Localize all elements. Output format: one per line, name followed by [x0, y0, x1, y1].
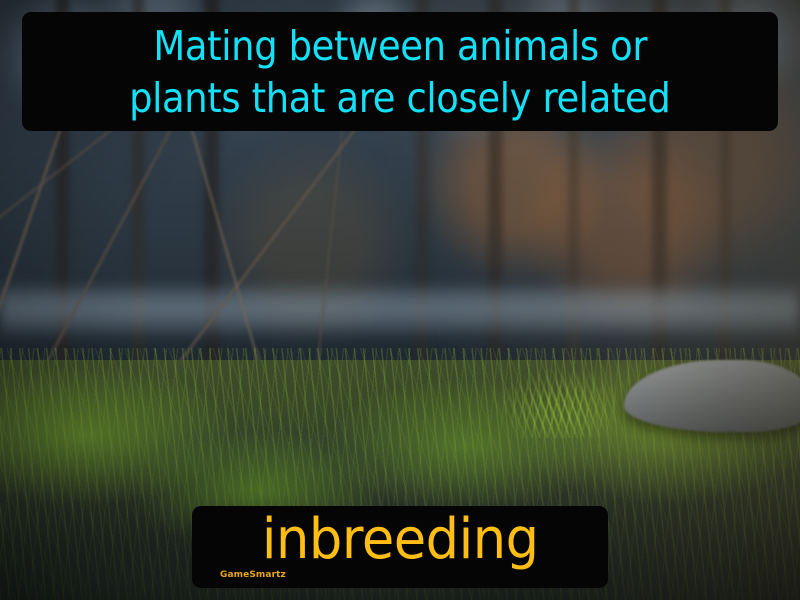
sunlit-grass-clump — [472, 342, 648, 438]
term-label: inbreeding — [262, 508, 539, 572]
watermark-label: GameSmartz — [220, 570, 286, 580]
definition-line-2: plants that are closely related — [129, 72, 670, 124]
definition-banner: Mating between animals or plants that ar… — [22, 12, 778, 131]
definition-line-1: Mating between animals or — [153, 20, 647, 72]
term-banner: inbreeding GameSmartz — [192, 506, 608, 588]
flashcard: Mating between animals or plants that ar… — [0, 0, 800, 600]
